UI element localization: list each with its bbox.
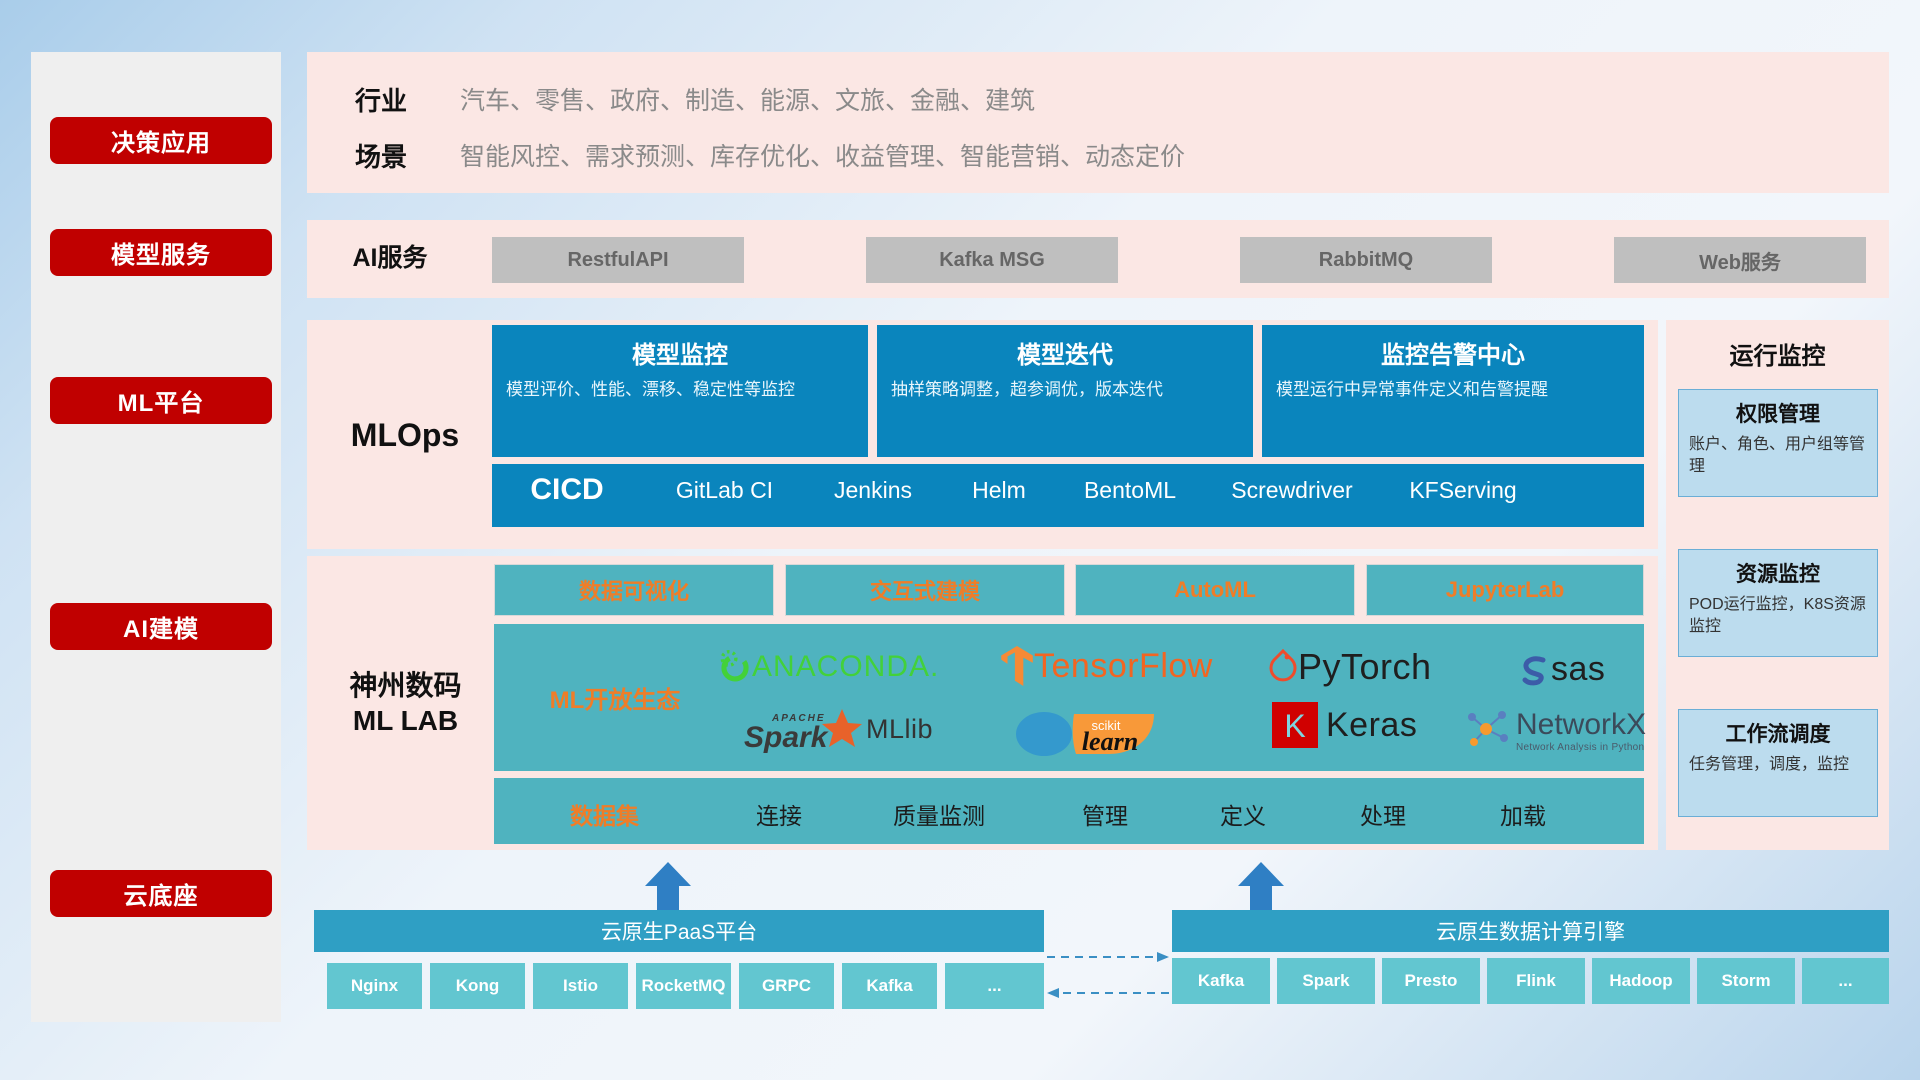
card-desc: 任务管理，调度，监控 [1689,754,1867,776]
networkx-sublabel: Network Analysis in Python [1516,742,1646,753]
keras-icon: K [1272,702,1318,748]
monitoring-card-permission[interactable]: 权限管理 账户、角色、用户组等管理 [1678,389,1878,497]
cloud-chip-rocketmq[interactable]: RocketMQ [636,963,731,1009]
cloud-chip-kafka-left[interactable]: Kafka [842,963,937,1009]
cloud-chip-grpc[interactable]: GRPC [739,963,834,1009]
industry-row: 行业 汽车、零售、政府、制造、能源、文旅、金融、建筑 [355,78,1035,120]
chip-label: JupyterLab [1446,577,1565,603]
chip-label: AutoML [1174,577,1256,603]
dataset-item-define[interactable]: 定义 [1188,797,1298,831]
dataset-item-connect[interactable]: 连接 [724,797,834,831]
arrow-up-compute [1238,862,1284,914]
mlops-card-model-monitoring[interactable]: 模型监控 模型评价、性能、漂移、稳定性等监控 [492,325,868,457]
tool-chip-data-visualization[interactable]: 数据可视化 [494,564,774,616]
tensorflow-icon [1000,646,1034,686]
cicd-item-screwdriver[interactable]: Screwdriver [1201,464,1383,503]
card-title: 资源监控 [1689,558,1867,588]
industry-value: 汽车、零售、政府、制造、能源、文旅、金融、建筑 [460,81,1035,117]
spark-mllib-logo: APACHE Spark MLlib [742,705,933,753]
sas-label: sas [1551,650,1605,689]
cloud-chip-more-left[interactable]: ... [945,963,1044,1009]
dataset-item-manage[interactable]: 管理 [1050,797,1160,831]
scenario-key: 场景 [355,137,460,174]
monitoring-card-resource[interactable]: 资源监控 POD运行监控，K8S资源监控 [1678,549,1878,657]
diagram-canvas: 决策应用 模型服务 ML平台 AI建模 云底座 行业 汽车、零售、政府、制造、能… [0,0,1920,1080]
tool-chip-automl[interactable]: AutoML [1075,564,1355,616]
rail-label: 模型服务 [111,235,211,270]
card-desc: 模型评价、性能、漂移、稳定性等监控 [506,379,854,401]
pytorch-icon [1268,649,1298,685]
keras-logo: K Keras [1272,702,1417,748]
card-title: 模型监控 [506,335,854,370]
chip-label: Storm [1721,972,1770,991]
chip-label: Presto [1405,972,1458,991]
cloud-bar-paas[interactable]: 云原生PaaS平台 [314,910,1044,952]
cicd-label: CICD [492,464,642,507]
sas-logo: sas [1517,650,1605,689]
cloud-bar-compute[interactable]: 云原生数据计算引擎 [1172,910,1889,952]
card-title: 工作流调度 [1689,718,1867,748]
cicd-item-helm[interactable]: Helm [939,464,1059,503]
scikit-learn-icon: scikit learn [1014,706,1174,758]
scenario-value: 智能风控、需求预测、库存优化、收益管理、智能营销、动态定价 [460,137,1185,173]
cloud-chip-hadoop[interactable]: Hadoop [1592,958,1690,1004]
monitoring-title: 运行监控 [1666,336,1889,371]
tensorflow-label: TensorFlow [1034,647,1213,686]
chip-label: Kafka MSG [939,249,1045,272]
card-title: 模型迭代 [891,335,1239,370]
cloud-chip-more-right[interactable]: ... [1802,958,1889,1004]
service-chip-kafka-msg[interactable]: Kafka MSG [866,237,1118,283]
cloud-chip-storm[interactable]: Storm [1697,958,1795,1004]
card-desc: POD运行监控，K8S资源监控 [1689,594,1867,637]
ai-service-label: AI服务 [320,220,460,298]
chip-label: 交互式建模 [870,574,980,606]
chip-label: Istio [563,977,598,996]
rail-item-ml-platform[interactable]: ML平台 [50,377,272,424]
pytorch-logo: PyTorch [1268,646,1432,688]
cicd-item-gitlab-ci[interactable]: GitLab CI [642,464,807,503]
mlops-label: MLOps [320,320,490,549]
sas-icon [1517,653,1551,687]
cicd-item-kfserving[interactable]: KFServing [1383,464,1543,503]
pytorch-label: PyTorch [1298,646,1432,688]
rail-item-decision-app[interactable]: 决策应用 [50,117,272,164]
chip-label: RestfulAPI [567,249,668,272]
chip-label: Nginx [351,977,398,996]
chip-label: ... [1838,972,1852,991]
chip-label: Kafka [866,977,912,996]
tool-chip-jupyterlab[interactable]: JupyterLab [1366,564,1644,616]
keras-label: Keras [1326,706,1417,745]
cloud-chip-kafka-right[interactable]: Kafka [1172,958,1270,1004]
ecosystem-label: ML开放生态 [520,624,710,771]
chip-label: RabbitMQ [1319,249,1413,272]
chip-label: Spark [1302,972,1349,991]
chip-label: ... [987,977,1001,996]
monitoring-card-workflow[interactable]: 工作流调度 任务管理，调度，监控 [1678,709,1878,817]
card-desc: 模型运行中异常事件定义和告警提醒 [1276,379,1630,401]
cicd-bar: CICD GitLab CI Jenkins Helm BentoML Scre… [492,464,1644,527]
dataset-item-process[interactable]: 处理 [1328,797,1438,831]
mlops-card-model-iteration[interactable]: 模型迭代 抽样策略调整，超参调优，版本迭代 [877,325,1253,457]
cloud-chip-spark[interactable]: Spark [1277,958,1375,1004]
chip-label: Kafka [1198,972,1244,991]
rail-label: ML平台 [118,383,205,418]
industry-key: 行业 [355,81,460,118]
card-title: 监控告警中心 [1276,335,1630,370]
cicd-item-jenkins[interactable]: Jenkins [807,464,939,503]
dataset-label: 数据集 [570,797,639,831]
tool-chip-interactive-modeling[interactable]: 交互式建模 [785,564,1065,616]
mlops-card-alert-center[interactable]: 监控告警中心 模型运行中异常事件定义和告警提醒 [1262,325,1644,457]
dataset-item-quality[interactable]: 质量监测 [864,797,1014,831]
ml-lab-label-line1: 神州数码 [349,668,461,703]
scikit-learn-logo: scikit learn [1014,706,1174,758]
networkx-logo: NetworkX Network Analysis in Python [1466,708,1646,753]
bidirectional-dashed-connector [1043,947,1173,1003]
cloud-chip-kong[interactable]: Kong [430,963,525,1009]
rail-item-cloud-base[interactable]: 云底座 [50,870,272,917]
arrow-up-paas [645,862,691,914]
svg-text:Spark: Spark [744,721,829,753]
card-title: 权限管理 [1689,398,1867,428]
rail-label: 云底座 [124,876,199,911]
cicd-item-bentoml[interactable]: BentoML [1059,464,1201,503]
anaconda-label: ANACONDA. [752,650,939,684]
service-chip-web-service[interactable]: Web服务 [1614,237,1866,283]
cloud-chip-istio[interactable]: Istio [533,963,628,1009]
tensorflow-logo: TensorFlow [1000,646,1213,686]
cloud-chip-presto[interactable]: Presto [1382,958,1480,1004]
cloud-bar-label: 云原生数据计算引擎 [1436,916,1625,946]
scenario-row: 场景 智能风控、需求预测、库存优化、收益管理、智能营销、动态定价 [355,134,1185,176]
networkx-icon [1466,708,1510,750]
svg-text:learn: learn [1082,727,1138,756]
dataset-item-load[interactable]: 加载 [1468,797,1578,831]
anaconda-logo: ANACONDA. [718,650,939,684]
rail-item-model-service[interactable]: 模型服务 [50,229,272,276]
chip-label: 数据可视化 [579,574,689,606]
card-desc: 账户、角色、用户组等管理 [1689,434,1867,477]
networkx-label: NetworkX [1516,708,1646,742]
cloud-chip-flink[interactable]: Flink [1487,958,1585,1004]
cloud-chip-nginx[interactable]: Nginx [327,963,422,1009]
chip-label: Kong [456,977,499,996]
chip-label: Web服务 [1699,246,1781,275]
chip-label: GRPC [762,977,811,996]
ml-lab-label: 神州数码 ML LAB [318,556,493,850]
service-chip-restfulapi[interactable]: RestfulAPI [492,237,744,283]
svg-text:K: K [1284,708,1305,744]
chip-label: Hadoop [1609,972,1672,991]
card-desc: 抽样策略调整，超参调优，版本迭代 [891,379,1239,401]
rail-label: 决策应用 [111,123,211,158]
anaconda-icon [718,650,752,684]
cloud-bar-label: 云原生PaaS平台 [601,916,757,946]
spark-icon: APACHE Spark [742,705,862,753]
chip-label: RocketMQ [641,977,725,996]
rail-label: AI建模 [123,609,199,644]
ml-lab-label-line2: ML LAB [353,703,458,738]
rail-item-ai-modeling[interactable]: AI建模 [50,603,272,650]
service-chip-rabbitmq[interactable]: RabbitMQ [1240,237,1492,283]
chip-label: Flink [1516,972,1556,991]
